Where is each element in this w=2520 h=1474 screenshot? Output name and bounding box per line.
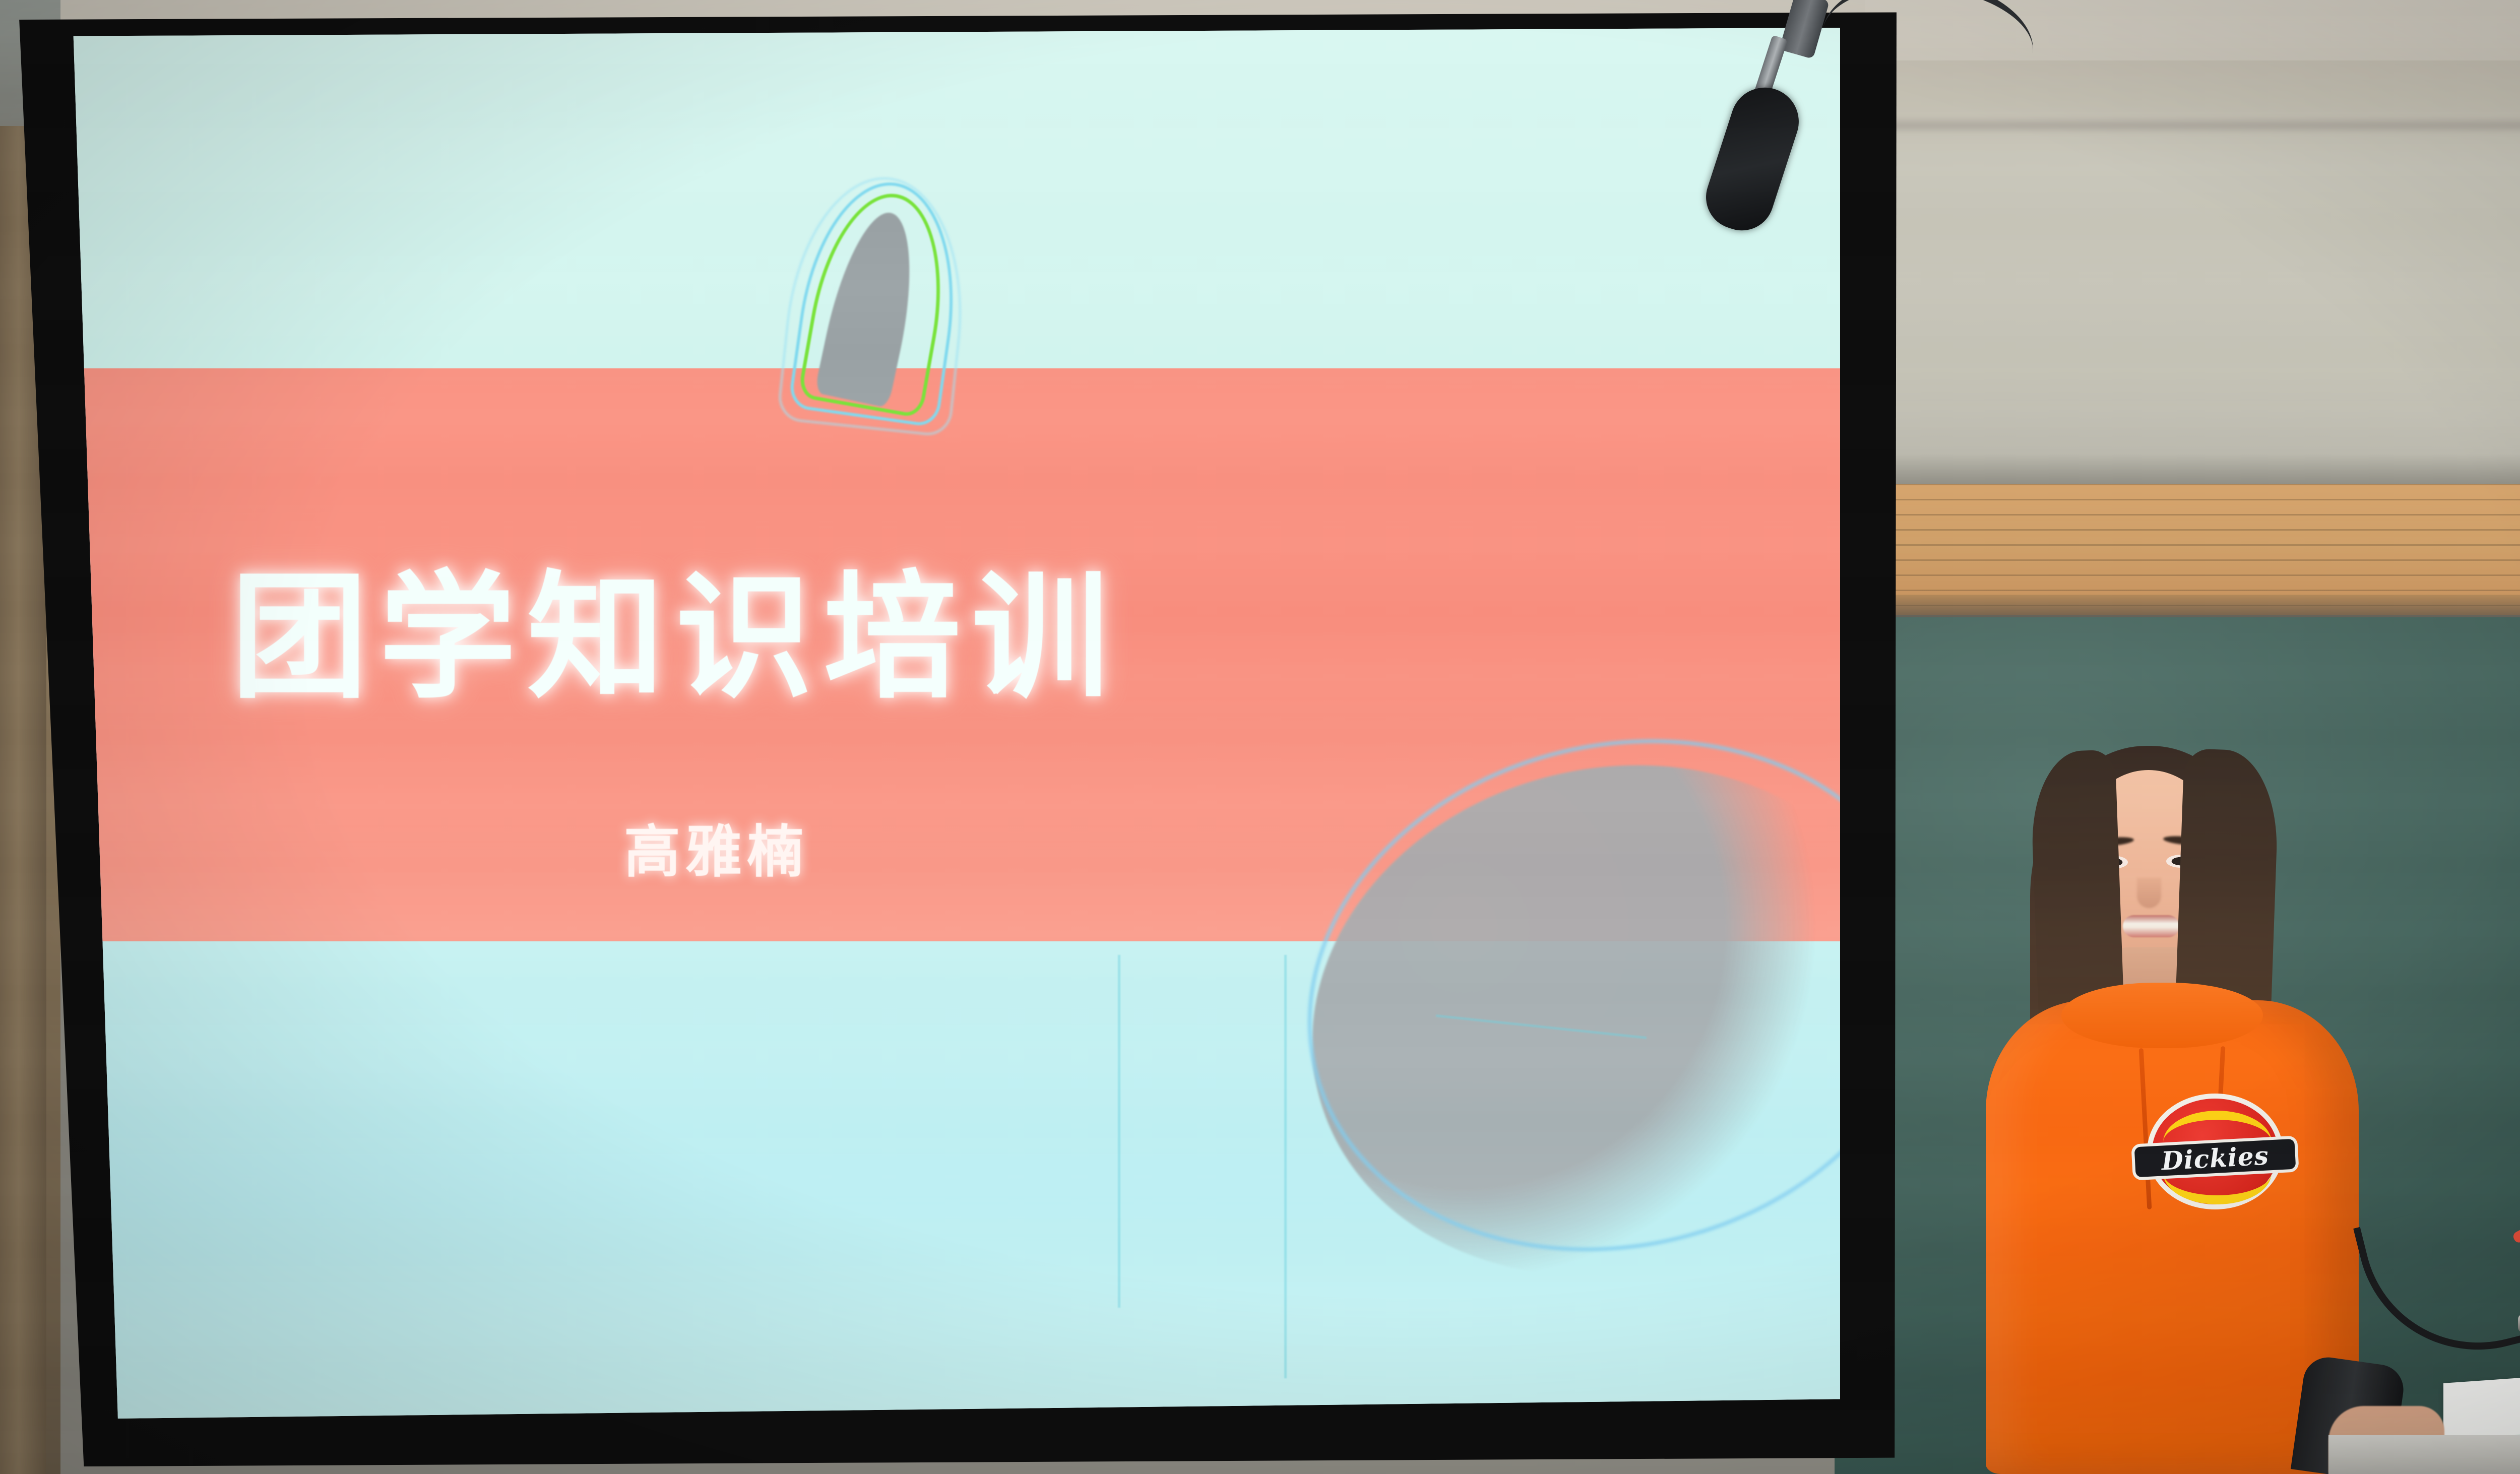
nose	[2137, 878, 2161, 908]
projection-screen-frame: 团学知识培训 高雅楠	[4, 5, 1904, 1466]
dickies-logo: Dickies	[2132, 1094, 2298, 1209]
wall-seam	[1855, 121, 2520, 130]
classroom-photo: 团学知识培训 高雅楠 Dickies	[0, 0, 2520, 1474]
slide-faint-line-2	[1284, 955, 1287, 1378]
thermos-bottle-cap	[2518, 1314, 2520, 1332]
mouth	[2123, 915, 2179, 937]
hood-collar	[2061, 983, 2263, 1048]
slide-faint-line-1	[1118, 955, 1120, 1308]
dickies-logo-text: Dickies	[2161, 1140, 2270, 1176]
podium-surface	[2328, 1435, 2520, 1474]
presenter: Dickies	[1966, 746, 2495, 1474]
slide-author: 高雅楠	[624, 824, 808, 880]
slide-title: 团学知识培训	[231, 569, 1120, 707]
projection-screen-surface: 团学知识培训 高雅楠	[65, 28, 1844, 1419]
